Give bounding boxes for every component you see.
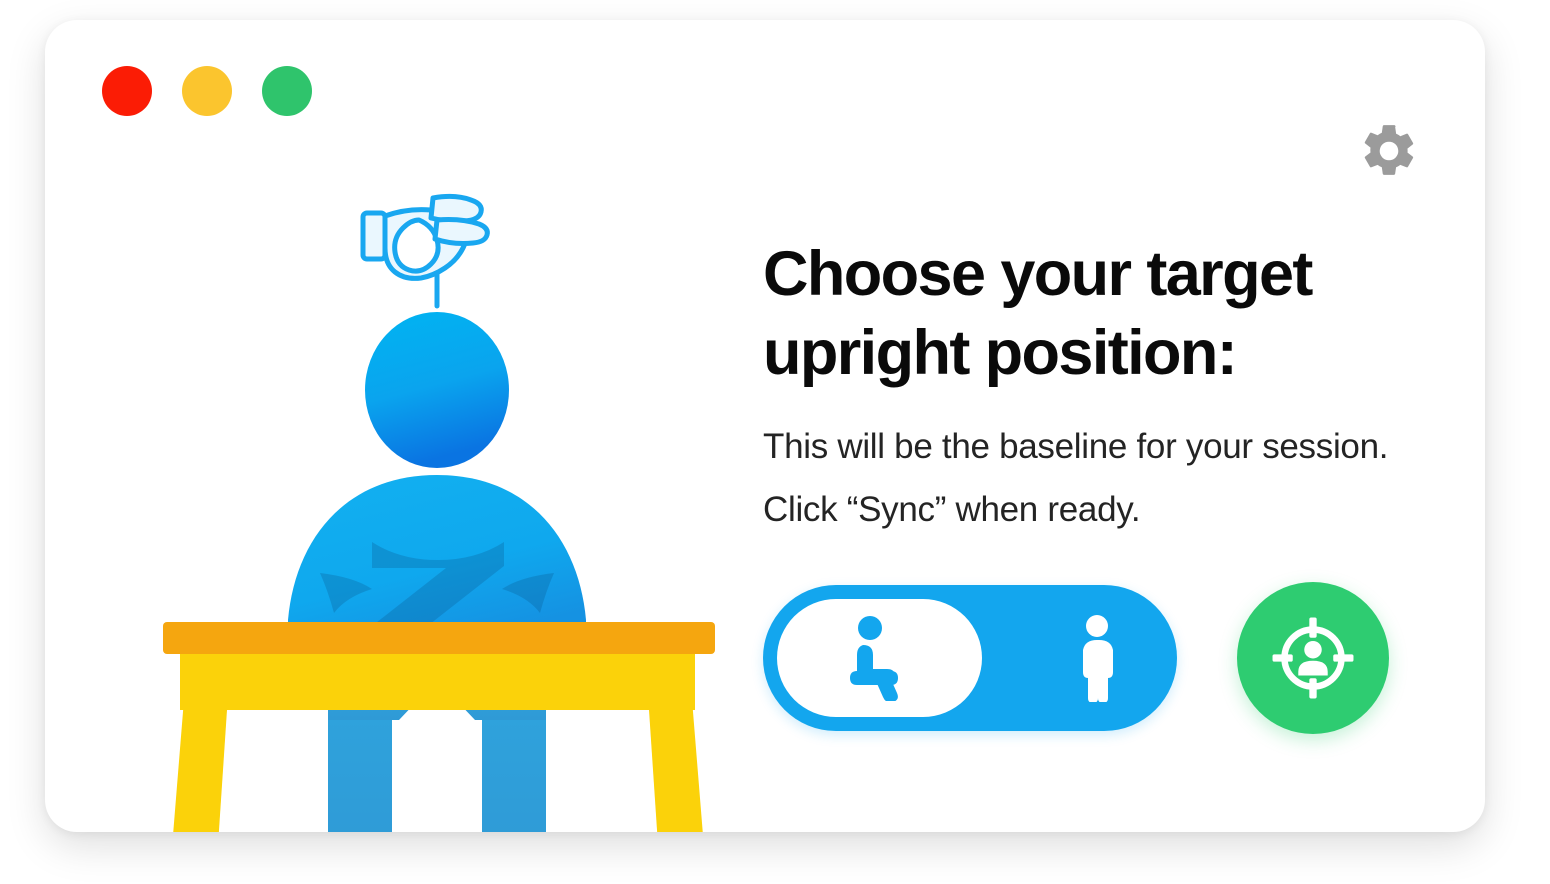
window-minimize-button[interactable] [182,66,232,116]
window-close-button[interactable] [102,66,152,116]
app-root: Choose your target upright position: Thi… [0,0,1550,884]
person-sitting-icon [843,615,917,701]
window-card: Choose your target upright position: Thi… [45,20,1485,832]
gear-icon [1358,120,1420,182]
toggle-option-standing[interactable] [1069,614,1125,702]
posture-mode-toggle[interactable] [763,585,1177,731]
settings-button[interactable] [1356,118,1422,184]
controls-row [763,582,1453,734]
content-panel: Choose your target upright position: Thi… [763,235,1453,734]
sync-target-button[interactable] [1237,582,1389,734]
page-subtitle: This will be the baseline for your sessi… [763,415,1423,542]
window-traffic-lights [102,66,312,116]
target-person-crosshair-icon [1267,612,1359,704]
window-maximize-button[interactable] [262,66,312,116]
page-title: Choose your target upright position: [763,235,1403,393]
person-standing-icon [1069,614,1125,702]
toggle-knob-sitting[interactable] [777,599,982,717]
illustration-person-slouching-at-desk [45,20,745,832]
